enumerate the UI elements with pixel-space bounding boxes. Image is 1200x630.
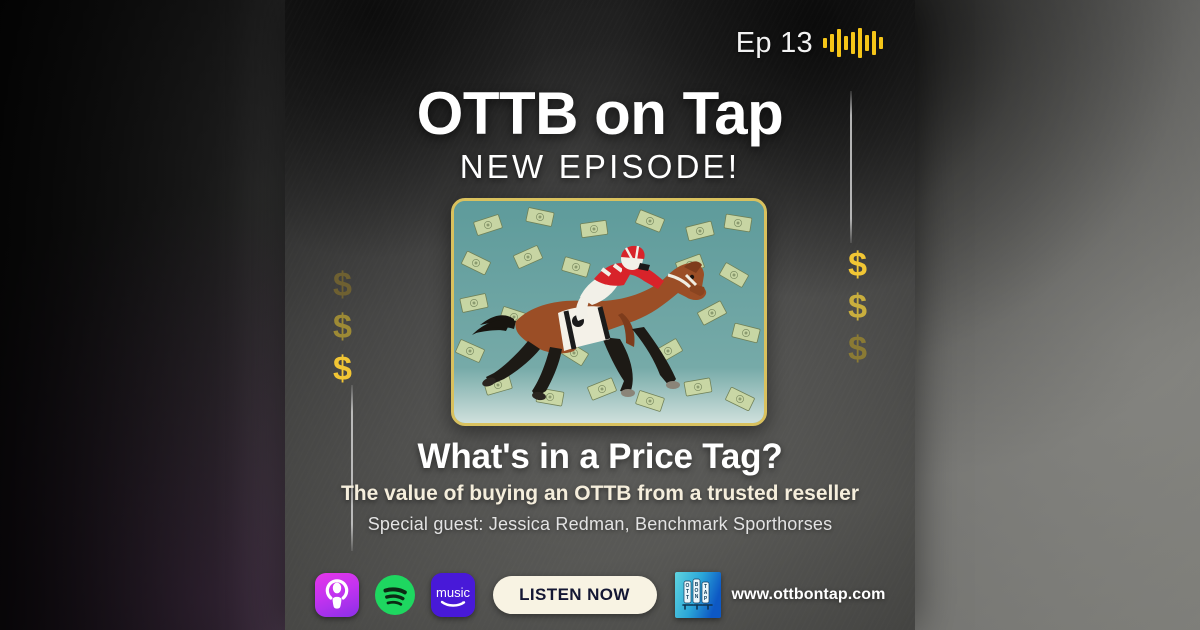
- dollar-signs-right: $ $ $: [848, 248, 867, 366]
- dollar-sign-icon: $: [333, 268, 352, 302]
- svg-text:music: music: [436, 585, 470, 600]
- dollar-sign-icon: $: [848, 290, 867, 324]
- dollar-sign-icon: $: [848, 248, 867, 282]
- dollar-sign-icon: $: [333, 352, 352, 386]
- dollar-sign-icon: $: [848, 332, 867, 366]
- episode-badge: Ep 13: [736, 28, 883, 58]
- spotify-icon[interactable]: [373, 573, 417, 617]
- episode-artwork: [451, 198, 767, 426]
- episode-tagline: The value of buying an OTTB from a trust…: [285, 482, 915, 506]
- dollar-sign-icon: $: [333, 310, 352, 344]
- amazon-music-icon[interactable]: music: [431, 573, 475, 617]
- dollar-signs-left: $ $ $: [333, 268, 352, 386]
- episode-title: What's in a Price Tag?: [285, 437, 915, 477]
- new-episode-label: NEW EPISODE!: [285, 148, 915, 186]
- audio-waveform-icon: [823, 28, 883, 58]
- website-block[interactable]: OTT BON TAP www.ottbontap.com: [675, 572, 886, 618]
- svg-text:N: N: [694, 594, 698, 600]
- listen-now-button[interactable]: LISTEN NOW: [493, 576, 657, 614]
- svg-text:T: T: [685, 595, 688, 601]
- website-url[interactable]: www.ottbontap.com: [732, 586, 886, 604]
- apple-podcasts-icon[interactable]: [315, 573, 359, 617]
- episode-number-label: Ep 13: [736, 29, 813, 58]
- ottb-on-tap-beer-taps-logo: OTT BON TAP: [675, 572, 721, 618]
- footer-bar: music LISTEN NOW: [285, 572, 915, 618]
- center-panel: Ep 13 OTTB on Tap NEW EPISODE! $ $ $ $ $…: [285, 0, 915, 630]
- podcast-episode-poster: Ep 13 OTTB on Tap NEW EPISODE! $ $ $ $ $…: [0, 0, 1200, 630]
- show-title: OTTB on Tap: [285, 82, 915, 145]
- episode-guest-line: Special guest: Jessica Redman, Benchmark…: [285, 514, 915, 535]
